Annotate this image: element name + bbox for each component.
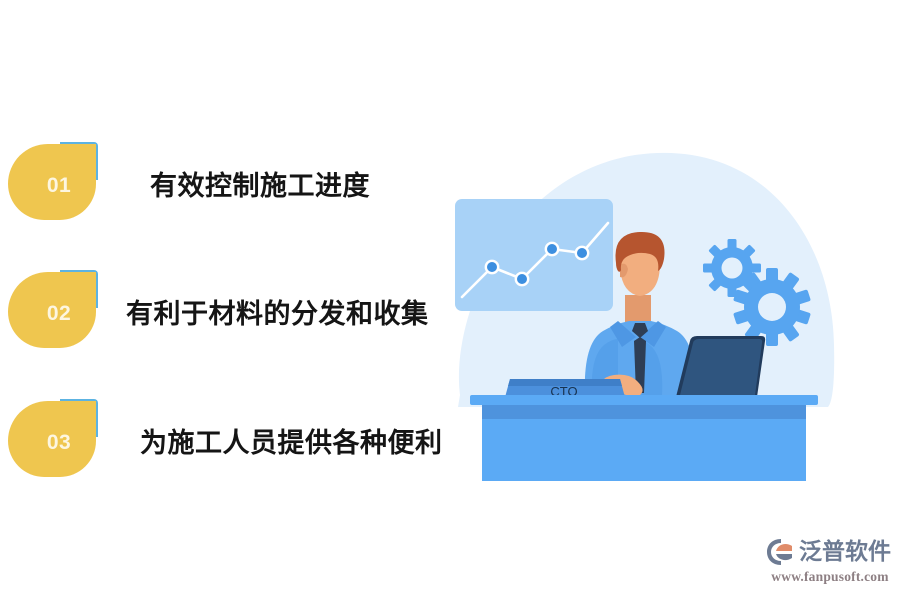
bullet-row[interactable]: 03 为施工人员提供各种便利: [0, 399, 470, 479]
chart-point: [546, 243, 558, 255]
bullet-text: 有效控制施工进度: [150, 160, 370, 206]
bullet-row[interactable]: 02 有利于材料的分发和收集: [0, 270, 470, 350]
bullet-badge-03: 03: [8, 399, 98, 477]
badge-shape: 02: [8, 272, 96, 348]
chart-panel: [455, 199, 613, 311]
brand-logo[interactable]: 泛普软件 www.fanpusoft.com: [766, 536, 894, 588]
slide-canvas: 01 有效控制施工进度 02 有利于材料的分发和收集 03 为施: [0, 0, 900, 600]
logo-brand-name: 泛普软件: [799, 541, 891, 564]
laptop: [676, 336, 765, 397]
desk-front: [482, 419, 806, 481]
badge-number: 02: [33, 297, 71, 324]
badge-shape: 03: [8, 401, 96, 477]
bullet-row[interactable]: 01 有效控制施工进度: [0, 142, 470, 222]
chart-point: [486, 261, 498, 273]
chart-point: [576, 247, 588, 259]
logo-mark-icon: [766, 538, 796, 566]
badge-shape: 01: [8, 144, 96, 220]
badge-number: 03: [33, 426, 71, 453]
bullet-text: 为施工人员提供各种便利: [140, 417, 443, 463]
bullet-text: 有利于材料的分发和收集: [126, 288, 429, 334]
bullet-badge-01: 01: [8, 142, 98, 220]
bullet-badge-02: 02: [8, 270, 98, 348]
logo-url: www.fanpusoft.com: [766, 569, 894, 585]
desk-band: [482, 405, 806, 419]
badge-number: 01: [33, 169, 71, 196]
chart-point: [516, 273, 528, 285]
illustration-cto-at-desk: CTO: [440, 145, 840, 485]
desk-top: [470, 395, 818, 405]
bullet-list: 01 有效控制施工进度 02 有利于材料的分发和收集 03 为施: [0, 0, 470, 600]
